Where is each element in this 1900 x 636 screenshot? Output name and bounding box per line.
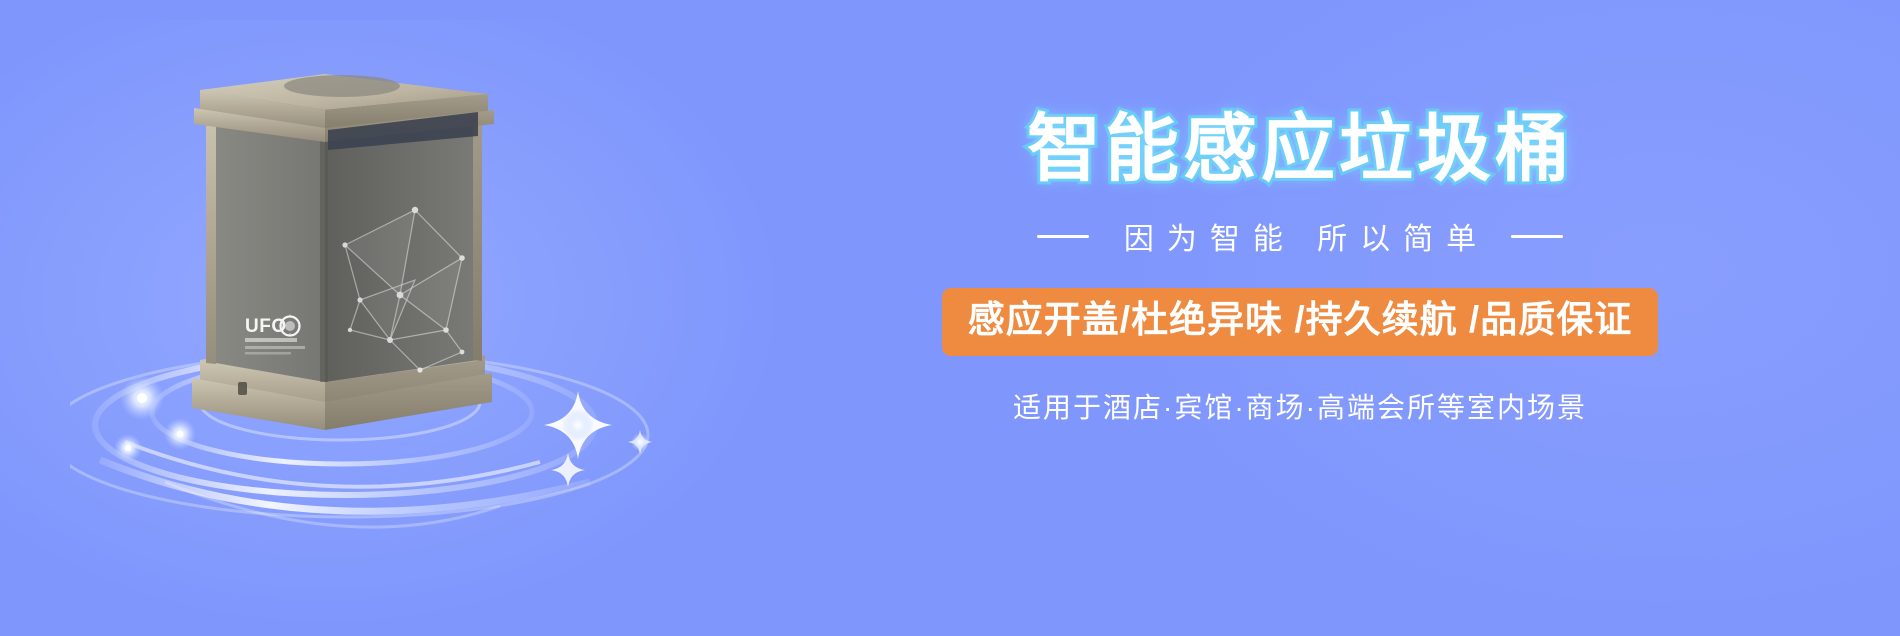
smart-trash-bin-illustration: UFO <box>70 30 770 590</box>
usage-scenarios-text: 适用于酒店·宾馆·商场·高端会所等室内场景 <box>880 386 1720 426</box>
base-sensor-port <box>238 382 247 395</box>
rule-left-icon <box>1037 235 1089 238</box>
page-title: 智能感应垃圾桶 <box>880 110 1720 188</box>
water-ripple-front <box>100 442 590 527</box>
feature-badge-label: 感应开盖/杜绝异味 /持久续航 /品质保证 <box>968 299 1632 340</box>
sparkle-stars <box>544 391 652 487</box>
rule-right-icon <box>1511 235 1563 238</box>
product-image: UFO <box>70 30 770 590</box>
feature-badge: 感应开盖/杜绝异味 /持久续航 /品质保证 <box>942 288 1658 356</box>
promo-banner: UFO <box>0 0 1900 636</box>
copy-block: 智能感应垃圾桶 因为智能 所以简单 感应开盖/杜绝异味 /持久续航 /品质保证 … <box>880 110 1720 426</box>
subtitle: 因为智能 所以简单 <box>1111 214 1489 258</box>
subtitle-row: 因为智能 所以简单 <box>880 214 1720 258</box>
bin-opening <box>284 75 400 97</box>
